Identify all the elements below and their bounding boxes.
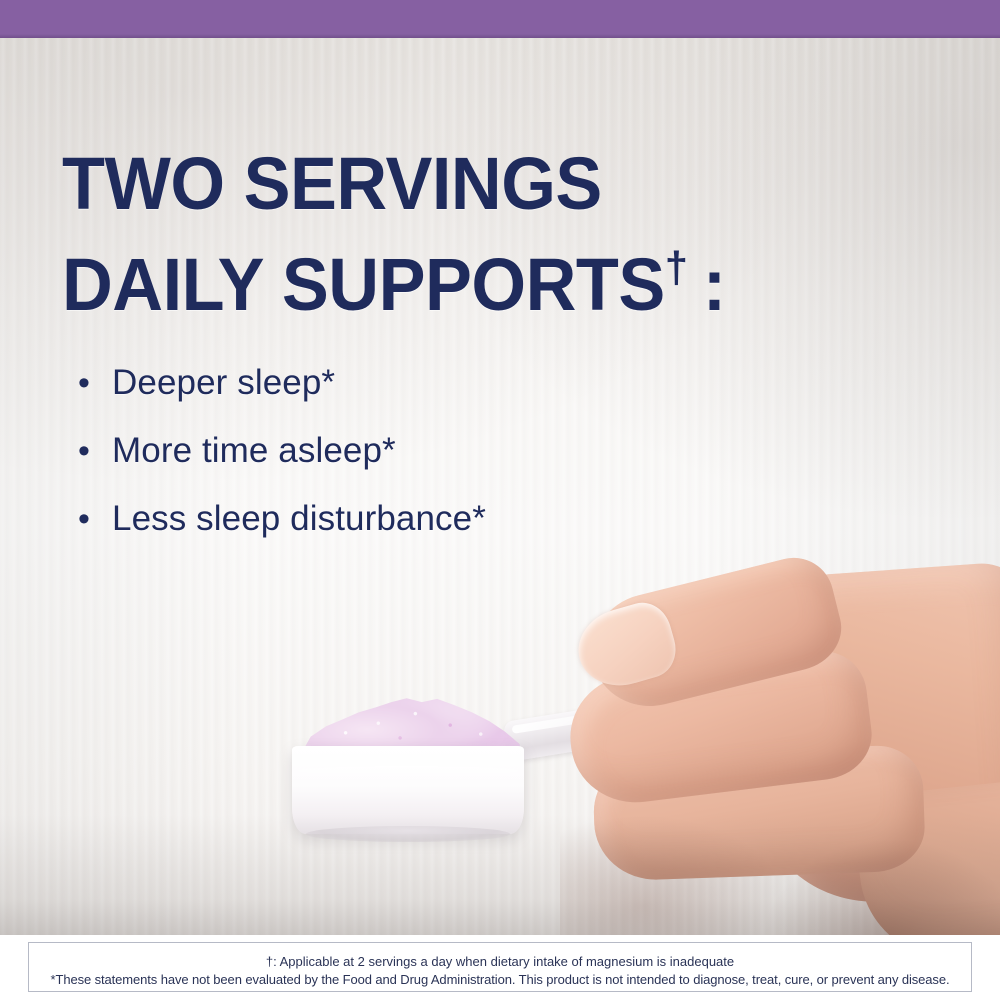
footer: †: Applicable at 2 servings a day when d… <box>0 935 1000 1000</box>
headline-line-1: TWO SERVINGS <box>62 142 879 226</box>
bullet-icon: • <box>78 360 112 406</box>
headline-colon: : <box>703 243 726 326</box>
list-item: • More time asleep* <box>78 428 838 474</box>
benefit-label: Less sleep disturbance* <box>112 496 486 542</box>
headline-line-2-text: DAILY SUPPORTS <box>62 243 665 326</box>
powder-mound <box>302 688 520 752</box>
disclaimer-line-2: *These statements have not been evaluate… <box>29 971 971 988</box>
list-item: • Deeper sleep* <box>78 360 838 406</box>
bullet-icon: • <box>78 428 112 474</box>
product-ad-panel: TWO SERVINGS DAILY SUPPORTS†: • Deeper s… <box>0 0 1000 1000</box>
benefit-label: Deeper sleep* <box>112 360 335 406</box>
headline-line-2: DAILY SUPPORTS†: <box>62 226 879 327</box>
benefits-list: • Deeper sleep* • More time asleep* • Le… <box>78 360 838 564</box>
page-title: TWO SERVINGS DAILY SUPPORTS†: <box>62 142 879 327</box>
top-purple-band <box>0 0 1000 38</box>
dagger-symbol: † <box>665 243 688 292</box>
disclaimer-box: †: Applicable at 2 servings a day when d… <box>28 942 972 992</box>
photo-bottom-shadow <box>0 815 1000 935</box>
product-photo: TWO SERVINGS DAILY SUPPORTS†: • Deeper s… <box>0 38 1000 935</box>
scoop-rim-highlight <box>298 766 518 776</box>
powder-speckles <box>302 688 520 752</box>
bullet-icon: • <box>78 496 112 542</box>
disclaimer-line-1: †: Applicable at 2 servings a day when d… <box>29 953 971 970</box>
benefit-label: More time asleep* <box>112 428 396 474</box>
